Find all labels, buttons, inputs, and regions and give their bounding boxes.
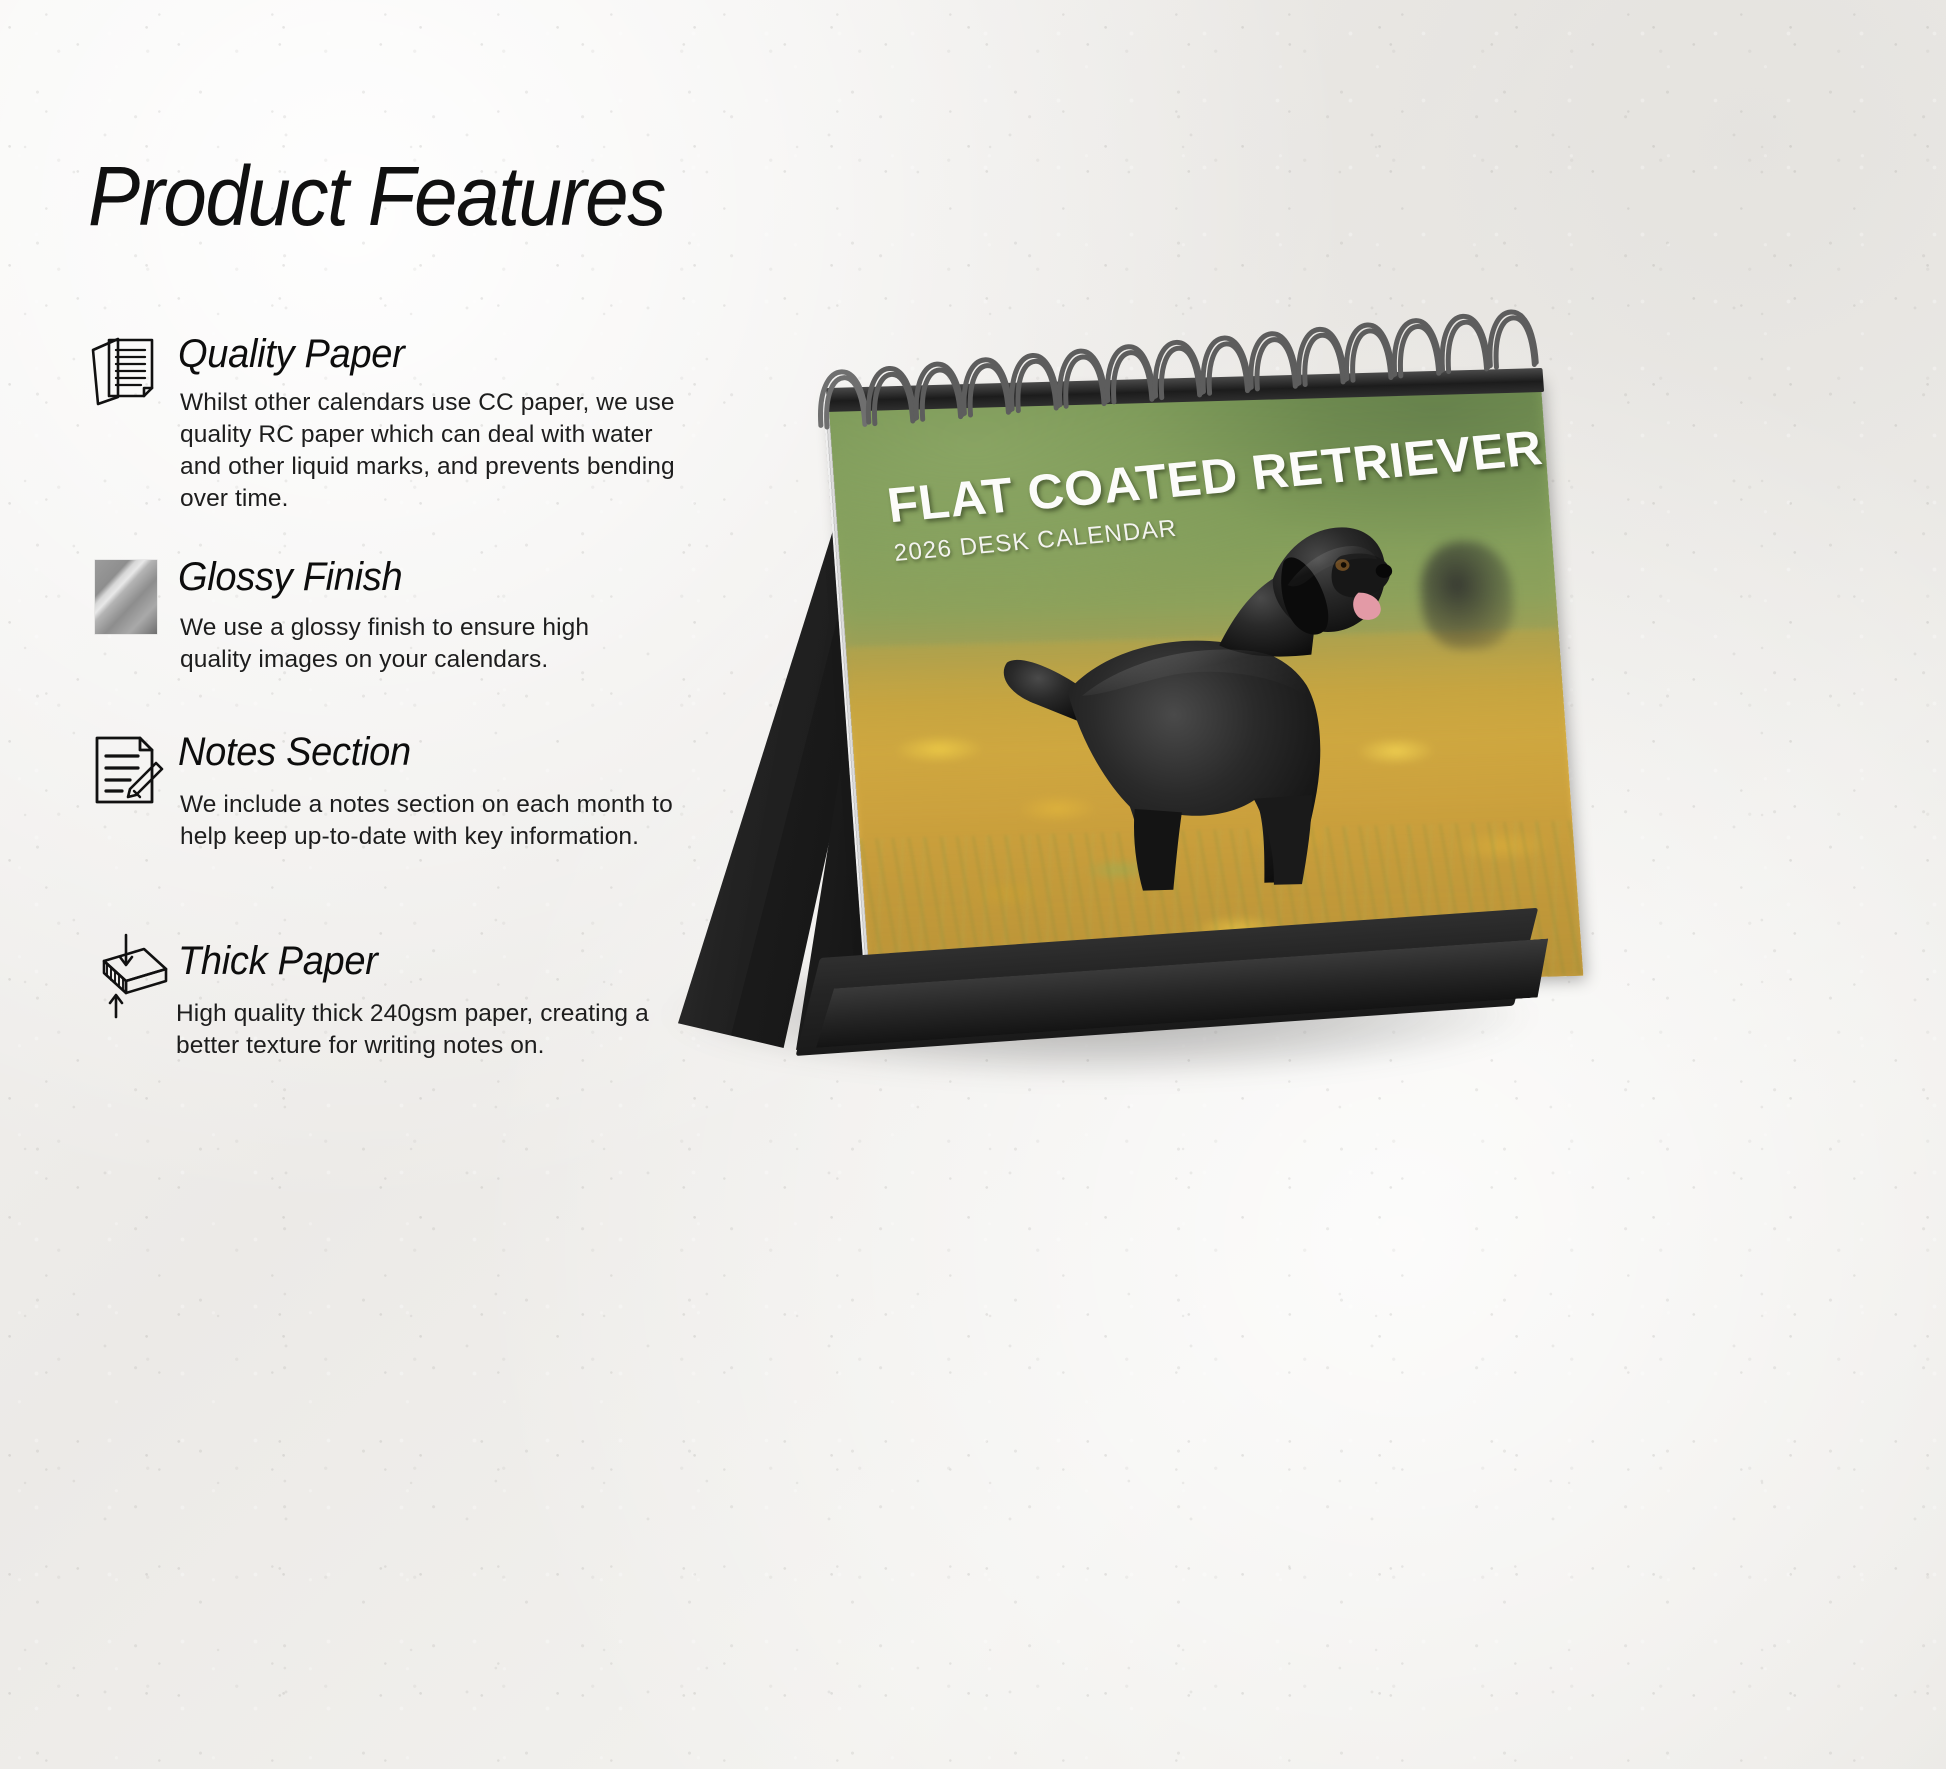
photo-flat-coated-retriever (949, 476, 1453, 955)
feature-body: Whilst other calendars use CC paper, we … (180, 387, 680, 514)
glossy-swatch (95, 560, 157, 634)
feature-item-thick-paper: Thick Paper High quality thick 240gsm pa… (80, 925, 690, 1062)
page-title: Product Features (88, 148, 665, 245)
feature-body: We include a notes section on each month… (180, 789, 680, 853)
glossy-square-icon (80, 551, 172, 643)
feature-item-quality-paper: Quality Paper Whilst other calendars use… (80, 322, 690, 514)
feature-body: High quality thick 240gsm paper, creatin… (176, 998, 656, 1062)
feature-item-notes-section: Notes Section We include a notes section… (80, 718, 690, 853)
features-column: Product Features Quality Paper Whilst ot… (0, 0, 760, 1769)
desk-calendar-mockup: FLAT COATED RETRIEVER 2026 DESK CALENDAR (660, 350, 1560, 1130)
feature-heading: Glossy Finish (178, 545, 664, 600)
note-pencil-icon (80, 724, 172, 816)
feature-body: We use a glossy finish to ensure high qu… (180, 612, 650, 676)
paper-thickness-icon (80, 929, 180, 1021)
feature-heading: Thick Paper (178, 925, 664, 984)
calendar-cover-photo: FLAT COATED RETRIEVER 2026 DESK CALENDAR (828, 377, 1583, 994)
stacked-papers-icon (80, 322, 172, 414)
feature-item-glossy-finish: Glossy Finish We use a glossy finish to … (80, 545, 690, 676)
feature-heading: Notes Section (178, 718, 664, 775)
feature-heading: Quality Paper (178, 322, 664, 377)
